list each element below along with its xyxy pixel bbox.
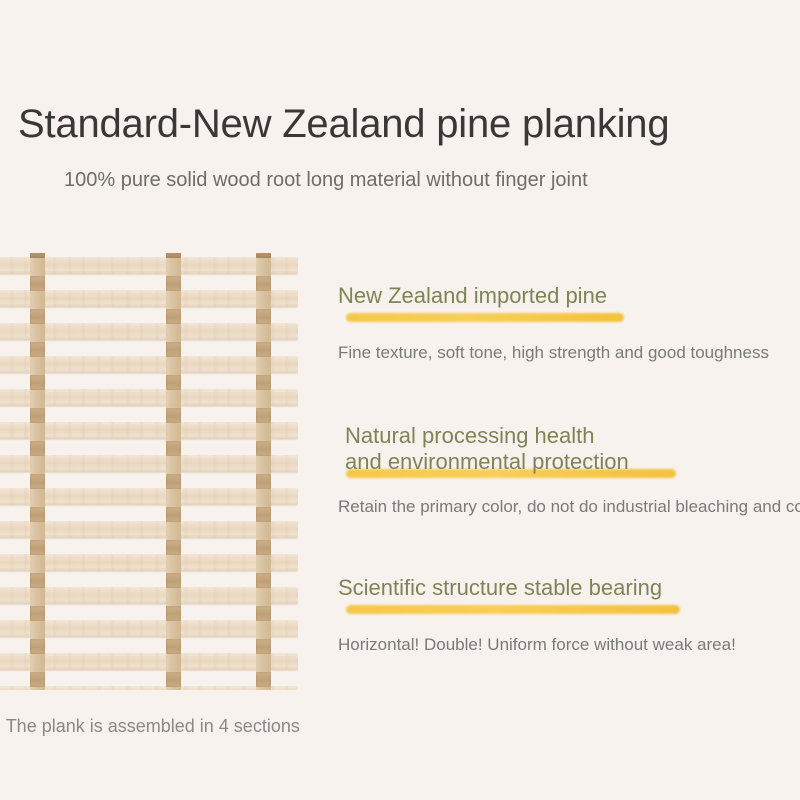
rail-tab — [256, 540, 271, 555]
rail-tab — [256, 253, 271, 258]
rail-tab — [256, 276, 271, 291]
rail-tab — [30, 375, 45, 390]
feature-description: Retain the primary color, do not do indu… — [338, 495, 800, 519]
rail-tab — [166, 276, 181, 291]
feature-item: Scientific structure stable bearing Hori… — [338, 575, 800, 601]
rail-tab — [256, 474, 271, 489]
feature-heading-wrap: Scientific structure stable bearing — [338, 575, 800, 601]
rail-tab — [30, 441, 45, 456]
feature-heading: New Zealand imported pine — [338, 283, 800, 309]
feature-underline-highlight — [346, 605, 680, 614]
rail-tab — [30, 540, 45, 555]
feature-heading-wrap: Natural processing health and environmen… — [338, 423, 800, 475]
rail-tab — [30, 408, 45, 423]
rail-tab — [166, 606, 181, 621]
rail-tab — [166, 507, 181, 522]
rail-tab — [256, 342, 271, 357]
feature-item: New Zealand imported pine Fine texture, … — [338, 283, 800, 309]
panel-caption: p: The plank is assembled in 4 sections — [0, 713, 300, 739]
rail-tab — [30, 309, 45, 324]
feature-heading: Natural processing health and environmen… — [338, 423, 635, 475]
rail-tab — [166, 639, 181, 654]
rail-tab — [166, 253, 181, 258]
rail-tab — [166, 375, 181, 390]
rail-tab — [166, 441, 181, 456]
rail-tab — [30, 639, 45, 654]
rail-tab — [256, 441, 271, 456]
rail-tab — [166, 573, 181, 588]
feature-heading: Scientific structure stable bearing — [338, 575, 800, 601]
rail-tab — [256, 408, 271, 423]
rail-tab — [256, 639, 271, 654]
rail-tab — [30, 573, 45, 588]
rail-tab — [30, 276, 45, 291]
product-detail-page: Standard-New Zealand pine planking 100% … — [0, 0, 800, 800]
pine-slat-panel-image — [0, 253, 298, 690]
feature-description: Horizontal! Double! Uniform force withou… — [338, 633, 736, 657]
rail-tab — [256, 672, 271, 687]
rail-tab — [30, 606, 45, 621]
feature-heading-wrap: New Zealand imported pine — [338, 283, 800, 309]
feature-description: Fine texture, soft tone, high strength a… — [338, 341, 769, 365]
rail-tab — [256, 606, 271, 621]
rail-tab — [166, 672, 181, 687]
page-subtitle: 100% pure solid wood root long material … — [64, 166, 588, 194]
rail-tab — [30, 253, 45, 258]
rail-tab — [256, 375, 271, 390]
rail-tab — [166, 342, 181, 357]
rail-tab — [30, 342, 45, 357]
rail-tab — [30, 507, 45, 522]
rail-tab — [256, 573, 271, 588]
feature-underline-highlight — [346, 313, 624, 322]
rail-tab — [30, 474, 45, 489]
rail-tab — [256, 309, 271, 324]
rail-tab — [30, 672, 45, 687]
rail-tab — [256, 507, 271, 522]
feature-item: Natural processing health and environmen… — [338, 423, 800, 475]
rail-tab — [166, 408, 181, 423]
rail-tab — [166, 474, 181, 489]
page-title: Standard-New Zealand pine planking — [18, 99, 669, 149]
rail-tab — [166, 540, 181, 555]
rail-tab — [166, 309, 181, 324]
